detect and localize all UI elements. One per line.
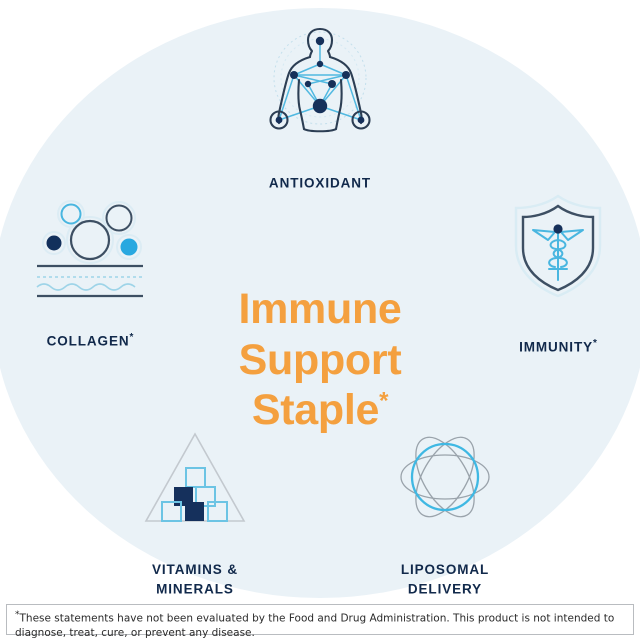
page-title-text: Immune Support Staple xyxy=(238,285,401,434)
benefit-label-antioxidant: ANTIOXIDANT xyxy=(269,155,371,193)
page-title: Immune Support Staple* xyxy=(0,234,640,435)
footnote-text: *These statements have not been evaluate… xyxy=(15,609,625,640)
human-body-network-icon xyxy=(261,18,379,141)
benefit-vitamins-minerals: VITAMINS & MINERALS xyxy=(112,428,278,599)
infographic-stage: ANTIOXIDANT xyxy=(0,0,640,640)
benefit-label-liposomal-delivery: LIPOSOMAL DELIVERY xyxy=(401,543,489,599)
benefit-label-text: ANTIOXIDANT xyxy=(269,176,371,191)
triangle-blocks-icon xyxy=(140,428,250,531)
page-title-asterisk: * xyxy=(379,388,388,415)
footnote-box: *These statements have not been evaluate… xyxy=(6,604,634,635)
benefit-label-vitamins-minerals: VITAMINS & MINERALS xyxy=(152,543,238,599)
liposome-orbit-icon xyxy=(390,428,500,531)
benefit-label-text: LIPOSOMAL DELIVERY xyxy=(401,562,489,597)
footnote-body: These statements have not been evaluated… xyxy=(15,613,614,639)
benefit-liposomal-delivery: LIPOSOMAL DELIVERY xyxy=(362,428,528,599)
benefit-label-text: VITAMINS & MINERALS xyxy=(152,562,238,597)
benefit-antioxidant: ANTIOXIDANT xyxy=(237,18,403,193)
